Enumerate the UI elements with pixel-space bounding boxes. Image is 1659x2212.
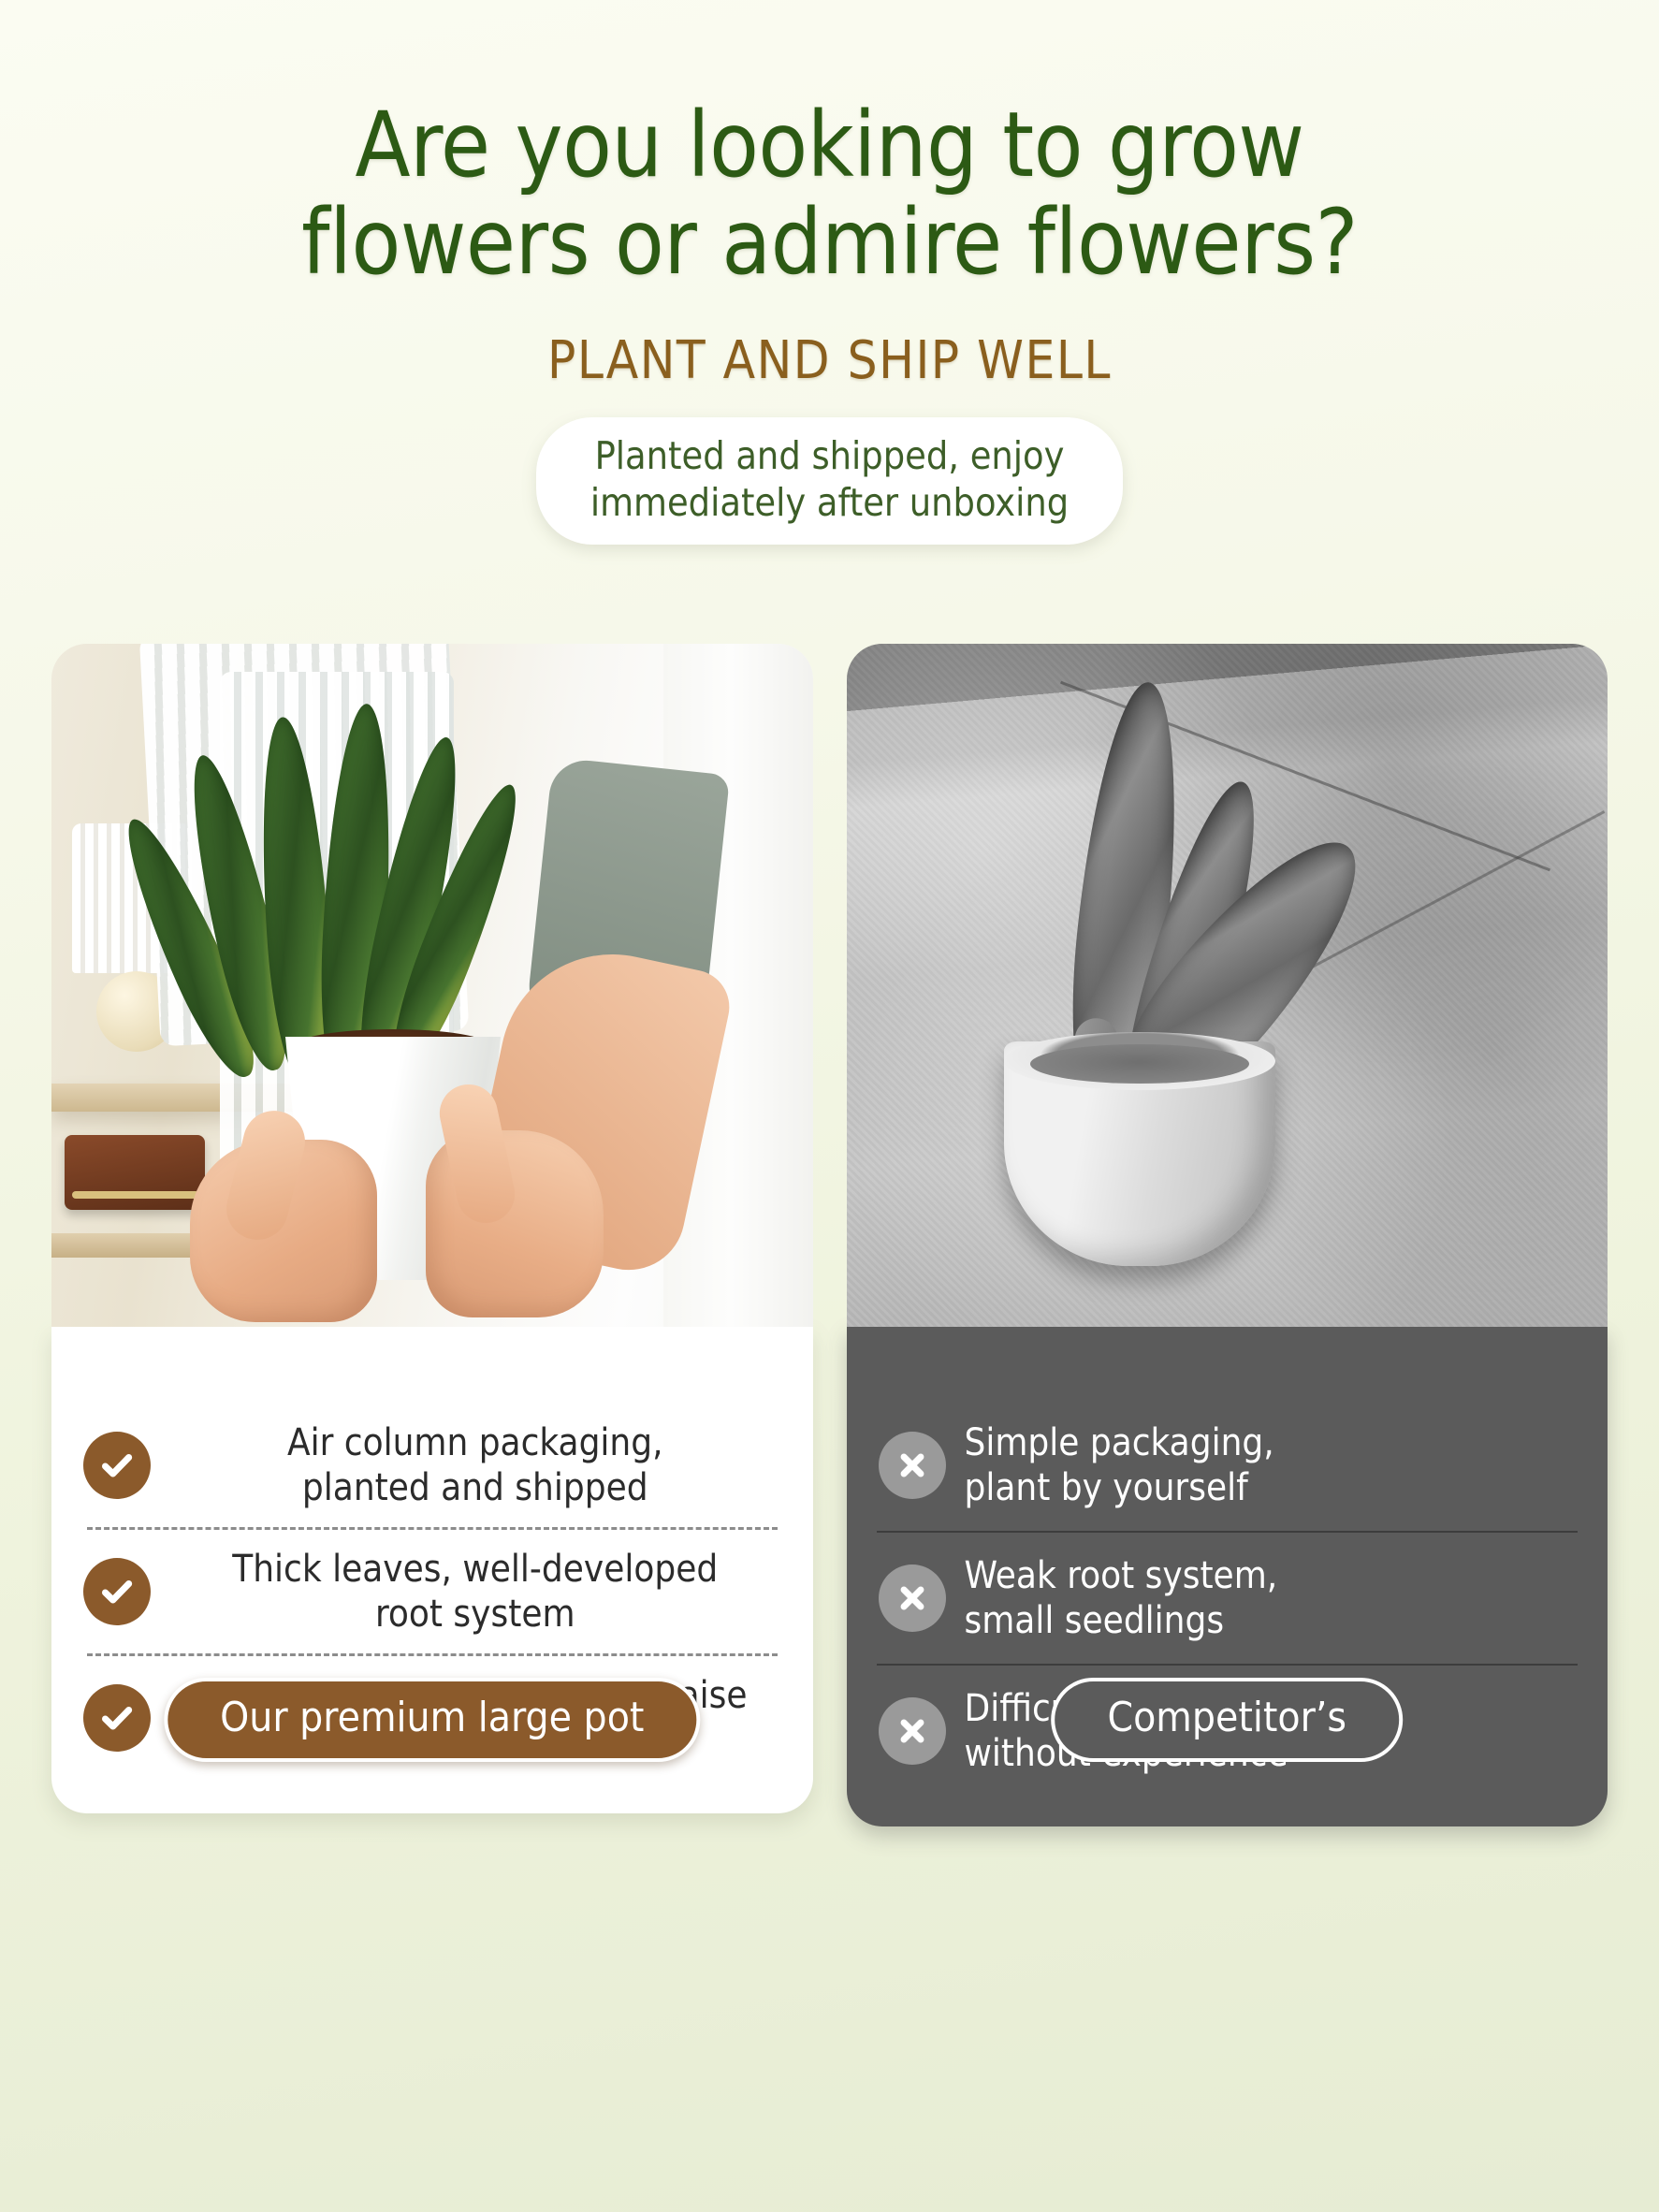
check-icon bbox=[83, 1684, 151, 1752]
page-title: Are you looking to grow flowers or admir… bbox=[175, 97, 1485, 291]
feature-text: Weak root system, small seedlings bbox=[965, 1553, 1577, 1643]
feature-line-2: root system bbox=[169, 1592, 781, 1637]
check-icon bbox=[83, 1558, 151, 1625]
feature-separator bbox=[877, 1664, 1579, 1666]
tagline-pill: Planted and shipped, enjoy immediately a… bbox=[536, 417, 1123, 545]
card-competitor: Competitor’s Simple packaging, plant by … bbox=[847, 644, 1608, 1826]
card-ours: Our premium large pot Air column packagi… bbox=[51, 644, 813, 1826]
feature-text: Thick leaves, well-developed root system bbox=[169, 1547, 781, 1637]
comparison-cards: Our premium large pot Air column packagi… bbox=[0, 644, 1659, 1826]
feature-row: Weak root system, small seedlings bbox=[873, 1540, 1582, 1656]
feature-line-2: planted and shipped bbox=[169, 1465, 781, 1510]
photo-book-edge bbox=[72, 1191, 199, 1199]
product-photo-ours bbox=[51, 644, 813, 1327]
photo-book bbox=[65, 1135, 205, 1210]
feature-row: Air column packaging, planted and shippe… bbox=[78, 1407, 787, 1523]
product-photo-competitor bbox=[847, 644, 1608, 1327]
feature-line-1: Air column packaging, bbox=[169, 1420, 781, 1465]
feature-row: Simple packaging, plant by yourself bbox=[873, 1407, 1582, 1523]
feature-text: Simple packaging, plant by yourself bbox=[965, 1420, 1577, 1510]
feature-row: Thick leaves, well-developed root system bbox=[78, 1534, 787, 1650]
page-title-line-2: flowers or admire flowers? bbox=[175, 195, 1485, 292]
cross-icon bbox=[879, 1564, 946, 1632]
page-title-line-1: Are you looking to grow bbox=[175, 97, 1485, 195]
feature-separator bbox=[87, 1527, 778, 1530]
badge-ours: Our premium large pot bbox=[164, 1678, 700, 1762]
page-header: Are you looking to grow flowers or admir… bbox=[0, 0, 1659, 545]
feature-text: Air column packaging, planted and shippe… bbox=[169, 1420, 781, 1510]
tagline-line-1: Planted and shipped, enjoy bbox=[590, 432, 1069, 479]
page-subtitle: PLANT AND SHIP WELL bbox=[0, 330, 1659, 391]
tagline-line-2: immediately after unboxing bbox=[590, 479, 1069, 526]
feature-separator bbox=[877, 1531, 1579, 1533]
cross-icon bbox=[879, 1697, 946, 1765]
feature-line-1: Weak root system, bbox=[965, 1553, 1577, 1598]
feature-separator bbox=[87, 1653, 778, 1656]
feature-line-1: Simple packaging, bbox=[965, 1420, 1577, 1465]
cross-icon bbox=[879, 1432, 946, 1499]
feature-line-1: Thick leaves, well-developed bbox=[169, 1547, 781, 1592]
badge-competitor: Competitor’s bbox=[1051, 1678, 1403, 1762]
check-icon bbox=[83, 1432, 151, 1499]
feature-line-2: small seedlings bbox=[965, 1598, 1577, 1643]
photo-pot-interior bbox=[1030, 1044, 1249, 1084]
feature-line-2: plant by yourself bbox=[965, 1465, 1577, 1510]
tagline-pill-wrapper: Planted and shipped, enjoy immediately a… bbox=[0, 417, 1659, 545]
